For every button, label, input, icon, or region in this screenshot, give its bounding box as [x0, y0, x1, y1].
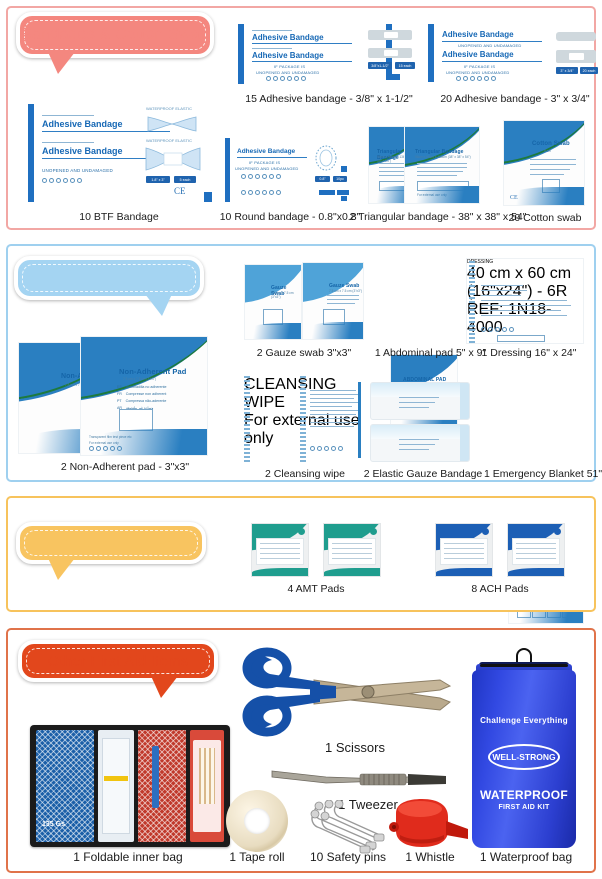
ab-small-rule-2	[252, 61, 352, 62]
this-way-up-icon	[70, 178, 75, 183]
section-header-other: Other First Aid Items	[18, 640, 218, 682]
no-reuse-icon	[317, 446, 322, 451]
caption-elastic-gauze: 2 Elastic Gauze Bandage	[358, 468, 488, 480]
caption-whistle: 1 Whistle	[392, 850, 468, 864]
drybag-brand-badge: WELL-STRONG	[488, 744, 560, 770]
section-header-swab: Swab, Pad and Wipe	[14, 256, 204, 300]
round-icon-row-1	[241, 174, 281, 179]
ab-large-title-2: Adhesive Bandage	[442, 50, 514, 59]
sachet-label	[256, 538, 303, 565]
drybag-line2: FIRST AID KIT	[472, 804, 576, 811]
section-header-other-label: Other First Aid Items	[48, 653, 189, 670]
fbag-mesh	[138, 730, 186, 842]
caption-adhesive-bandage-large: 20 Adhesive bandage - 3" x 3/4"	[430, 93, 600, 105]
no-resterilize-icon	[49, 178, 54, 183]
product-tweezer	[268, 765, 448, 793]
product-non-adherent-pad: Non-Adherent Pad 7.5 cm x 7.5 cm (3"x3")…	[18, 336, 228, 458]
pkg-line	[310, 390, 356, 391]
caption-dressing: 1 Dressing 16" x 24"	[470, 347, 588, 359]
butterfly-closure-small	[146, 114, 198, 134]
ab-small-icon-row	[266, 76, 306, 81]
product-waterproof-bag: Challenge Everything WELL-STRONG WATERPR…	[472, 648, 576, 848]
sterile-icon	[495, 327, 500, 332]
drybag-body: Challenge Everything WELL-STRONG WATERPR…	[472, 670, 576, 848]
keep-dry-icon	[262, 190, 267, 195]
pkg-line	[379, 175, 405, 176]
no-reuse-icon	[241, 174, 246, 179]
pkg-line	[327, 303, 355, 304]
pkg-line	[310, 402, 360, 403]
caption-gauze-swab: 2 Gauze swab 3"x3"	[244, 347, 364, 359]
sachet-footer	[508, 568, 564, 576]
gauze-pkg-front: Gauze Swab 7.5 cm x 7.5 cm (3"x3")	[302, 262, 364, 340]
product-whistle	[386, 795, 470, 853]
sachet-line	[332, 548, 372, 549]
fbag-tool-blue	[152, 746, 159, 808]
btf-rail-bottom	[204, 192, 212, 202]
round-icon-row-2	[241, 190, 281, 195]
non-adherent-title: Non-Adherent Pad	[119, 367, 186, 376]
caption-non-adherent-pad: 2 Non-Adherent pad - 3"x3"	[20, 461, 230, 473]
dressing-manufacturer-box	[497, 335, 545, 342]
sachet-line	[444, 553, 484, 554]
product-elastic-gauze	[370, 382, 474, 464]
cleansing-perforation-left	[244, 376, 250, 464]
non-adherent-lang-list: ES Almohadilla no adherente FR Compresse…	[117, 385, 167, 410]
btf-rail-left	[28, 104, 34, 202]
btf-fine-text: UNOPENED AND UNDAMAGED	[42, 168, 113, 173]
amt-pad-2	[323, 523, 381, 577]
pkg-line	[481, 310, 561, 311]
pkg-footer	[504, 187, 584, 205]
pkg-line	[530, 164, 576, 165]
ab-small-title-2: Adhesive Bandage	[252, 51, 324, 60]
butterfly-closure-large	[144, 146, 202, 172]
caption-waterproof-bag: 1 Waterproof bag	[466, 850, 586, 864]
ab-large-size-tag: 3" x 3/4"	[556, 67, 578, 74]
round-rule	[237, 157, 307, 158]
sachet-logo-dot	[482, 528, 489, 535]
ab-large-title-1: Adhesive Bandage	[442, 30, 514, 39]
cleansing-text-block	[310, 390, 360, 427]
ab-large-count-tag: 20 each	[580, 67, 598, 74]
lang-code: ES	[117, 385, 122, 389]
btf-title-1: Adhesive Bandage	[42, 119, 123, 129]
sterile-icon	[280, 76, 285, 81]
pkg-line	[530, 174, 564, 175]
ab-small-card: Adhesive Bandage Adhesive Bandage IF PAC…	[250, 26, 362, 84]
ab-small-fine-1: IF PACKAGE IS	[274, 64, 305, 69]
fbag-panel-mid-left	[98, 730, 134, 842]
pkg-line	[310, 422, 358, 423]
cleansing-icon-row	[310, 446, 343, 451]
no-reuse-icon	[241, 190, 246, 195]
lang-text: Compressa não-aderente	[126, 399, 167, 403]
fbag-content-card	[102, 738, 130, 834]
pkg-line	[481, 285, 523, 286]
tape-core-hole	[244, 808, 270, 834]
ab-small-fine-2: UNOPENED AND UNDAMAGED	[256, 70, 320, 75]
pkg-line	[530, 159, 576, 160]
gauze-size-back: 7.5 cm x 7.5 cm (3"x3")	[271, 291, 301, 299]
ce-icon	[481, 327, 486, 332]
round-block-4	[341, 196, 347, 201]
sachet-line	[332, 558, 372, 559]
ab-small-count-tag: 15 each	[395, 62, 415, 69]
caption-cleansing-wipe: 2 Cleansing wipe	[250, 468, 360, 480]
infographic-page: Bandages & Cotton Swab Adhesive Bandage …	[0, 0, 602, 879]
sachet-line	[516, 558, 556, 559]
pouch-line	[399, 449, 429, 450]
product-dressing: DRESSING 40 cm x 60 cm (16"x24") - 6R RE…	[466, 258, 584, 344]
round-rail-left	[225, 138, 230, 202]
non-adherent-size: 7.5 cm x 7.5 cm (3"x3")	[123, 377, 156, 381]
pkg-line	[327, 295, 359, 296]
pkg-line	[310, 394, 360, 395]
pouch-right-edge	[460, 383, 469, 419]
ab-small-rail-foot	[386, 74, 400, 80]
caption-btf-bandage: 10 BTF Bandage	[26, 211, 212, 223]
expiry-icon	[338, 446, 343, 451]
caption-scissors: 1 Scissors	[300, 740, 410, 755]
ab-small-tagline-2	[252, 48, 292, 49]
sachet-line	[332, 553, 372, 554]
temperature-icon	[276, 174, 281, 179]
ab-large-rule-1	[442, 41, 542, 42]
pouch-line	[399, 407, 429, 408]
section-header-bandages-label: Bandages & Cotton Swab	[21, 26, 209, 44]
drybag-slogan: Challenge Everything	[472, 716, 576, 725]
bubble-tail	[48, 558, 75, 580]
product-cotton-swab: Cotton Swab 8 cm CE	[503, 120, 585, 206]
keep-dry-icon	[63, 178, 68, 183]
no-resterilize-icon	[248, 174, 253, 179]
sachet-line	[260, 548, 300, 549]
pkg-line	[327, 299, 359, 300]
ab-small-rule-1	[252, 43, 352, 44]
btf-waterproof-label-1: WATERPROOF ELASTIC	[146, 106, 192, 111]
pouch-right-edge	[460, 425, 469, 461]
sachet-line	[516, 548, 556, 549]
non-adherent-pictogram	[119, 409, 153, 431]
round-card: Adhesive Bandage IF PACKAGE IS UNOPENED …	[235, 148, 313, 204]
caption-safety-pins: 10 Safety pins	[296, 850, 400, 864]
ab-large-card: Adhesive Bandage UNOPENED AND UNDAMAGED …	[440, 26, 552, 84]
ab-small-size-tag: 3/8"x1-1/2"	[368, 62, 392, 69]
sachet-line	[260, 543, 300, 544]
sachet-line	[444, 543, 484, 544]
round-fine-1: IF PACKAGE IS	[249, 160, 280, 165]
caption-tape-roll: 1 Tape roll	[212, 850, 302, 864]
amt-pad-1	[251, 523, 309, 577]
lang-row: PT Compressa não-aderente	[117, 399, 167, 403]
no-reuse-icon	[266, 76, 271, 81]
pouch-line	[399, 439, 439, 440]
temperature-icon	[276, 190, 281, 195]
bandage-strip-pad	[569, 53, 584, 60]
drybag-brand-label: WELL-STRONG	[492, 752, 555, 762]
this-way-up-icon	[484, 76, 489, 81]
triangular-size: 96cm x 96cm x 136cm (38" x 38" x 54")	[415, 155, 471, 159]
cleansing-perforation-mid	[300, 376, 306, 464]
sachet-label	[440, 538, 487, 565]
pkg-footer	[245, 323, 301, 339]
pkg-line	[481, 295, 521, 296]
product-cleansing-wipe: CLEANSING WIPE For external use only	[244, 376, 364, 466]
temperature-icon	[301, 76, 306, 81]
ce-icon	[310, 446, 315, 451]
fbag-panel-mid-right	[138, 730, 186, 842]
sterile-icon	[255, 190, 260, 195]
pkg-line	[310, 410, 358, 411]
temperature-icon	[491, 76, 496, 81]
pkg-line	[310, 398, 354, 399]
ab-small-title-1: Adhesive Bandage	[252, 33, 324, 42]
pkg-line	[310, 414, 356, 415]
sachet-line	[516, 543, 556, 544]
cleansing-edge-right	[358, 382, 361, 458]
pkg-line	[417, 167, 467, 168]
lang-code: PT	[117, 399, 122, 403]
cotton-swab-title: Cotton Swab	[532, 141, 570, 147]
ab-large-fine-1: IF PACKAGE IS	[464, 64, 495, 69]
ab-large-fine-0: UNOPENED AND UNDAMAGED	[458, 43, 522, 48]
btf-title-2: Adhesive Bandage	[42, 146, 123, 156]
btf-ce-mark: CE	[174, 186, 186, 196]
sterile-icon	[56, 178, 61, 183]
sachet-line	[260, 558, 300, 559]
lang-row: FR Compresse non adherent	[117, 392, 167, 396]
product-foldable-inner-bag: 135 Gs	[30, 725, 230, 847]
dressing-text-block	[481, 285, 577, 316]
round-block-3	[337, 190, 349, 195]
caption-ach-pads: 8 ACH Pads	[435, 583, 565, 595]
this-way-up-icon	[269, 190, 274, 195]
product-scissors	[240, 640, 456, 744]
section-header-swab-label: Swab, Pad and Wipe	[37, 270, 181, 287]
no-resterilize-icon	[463, 76, 468, 81]
bubble-tail	[145, 294, 172, 316]
keep-dry-icon	[331, 446, 336, 451]
bandage-strip-pad	[384, 32, 398, 38]
drybag-strap	[480, 664, 568, 667]
pkg-footer	[405, 186, 479, 203]
btf-count-tag: 5 each	[174, 176, 196, 183]
sachet-footer	[324, 568, 380, 576]
ab-large-icon-row	[456, 76, 496, 81]
cotton-swab-size: 8 cm	[544, 149, 551, 153]
section-header-pads: ACH and AMT Pad	[16, 522, 206, 564]
fbag-swab-sticks	[199, 748, 215, 804]
bandage-strip-2	[368, 48, 412, 58]
expiry-icon	[509, 327, 514, 332]
pkg-line	[481, 315, 567, 316]
btf-waterproof-label-2: WATERPROOF ELASTIC	[146, 138, 192, 143]
pkg-green-line	[404, 126, 480, 167]
gauze-pkg-back: Gauze Swab 7.5 cm x 7.5 cm (3"x3")	[244, 264, 302, 340]
pouch-tint	[371, 425, 469, 439]
drybag-line1: WATERPROOF	[472, 788, 576, 802]
btf-tagline-1	[42, 115, 94, 116]
this-way-up-icon	[294, 76, 299, 81]
round-block-1	[341, 166, 347, 172]
fbag-yellow-strip	[104, 776, 128, 781]
keep-dry-icon	[477, 76, 482, 81]
bubble-tail	[48, 52, 75, 74]
product-safety-pins	[306, 800, 392, 854]
fbag-panel-right	[190, 730, 224, 842]
sachet-logo-dot	[554, 528, 561, 535]
keep-dry-icon	[262, 174, 267, 179]
lang-row: ES Almohadilla no adherente	[117, 385, 167, 389]
no-reuse-icon	[456, 76, 461, 81]
keep-dry-icon	[502, 327, 507, 332]
round-block-2	[319, 190, 335, 195]
lang-text: Almohadilla no adherente	[126, 385, 167, 389]
sterile-icon	[255, 174, 260, 179]
fbag-panel-left: 135 Gs	[36, 730, 94, 842]
lang-code: FR	[117, 392, 122, 396]
pkg-line	[417, 163, 467, 164]
btf-icon-row	[42, 178, 82, 183]
elastic-gauze-pouch-1	[370, 382, 470, 420]
product-round-bandage: Adhesive Bandage IF PACKAGE IS UNOPENED …	[225, 138, 345, 204]
bandage-strip-pad	[384, 50, 398, 56]
bandage-strip-1	[368, 30, 412, 40]
pkg-line	[481, 290, 527, 291]
sachet-line	[260, 553, 300, 554]
pkg-line	[417, 171, 463, 172]
round-fine-2: UNOPENED AND UNDAMAGED	[235, 166, 299, 171]
pkg-line	[310, 426, 354, 427]
dressing-icon-row	[481, 327, 514, 332]
sachet-line	[444, 548, 484, 549]
triangular-pkg-front: Triangular Bandage 96cm x 96cm x 136cm (…	[404, 126, 480, 204]
sachet-footer	[252, 568, 308, 576]
gauze-size: 7.5 cm x 7.5 cm (3"x3")	[329, 289, 362, 293]
pkg-line	[310, 406, 352, 407]
caption-amt-pads: 4 AMT Pads	[251, 583, 381, 595]
sachet-logo-dot	[370, 528, 377, 535]
sachet-line	[516, 553, 556, 554]
sachet-footer	[436, 568, 492, 576]
no-resterilize-icon	[248, 190, 253, 195]
ach-pad-2	[507, 523, 565, 577]
this-way-up-icon	[269, 174, 274, 179]
pkg-line	[481, 300, 567, 301]
ab-small-rail-left	[238, 24, 244, 84]
bandage-strip-wide-2	[556, 50, 596, 63]
pkg-line	[310, 418, 350, 419]
section-header-pads-label: ACH and AMT Pad	[46, 535, 175, 552]
pkg-line	[530, 169, 570, 170]
pouch-tint	[371, 383, 469, 397]
sachet-logo-dot	[298, 528, 305, 535]
pkg-line	[481, 305, 571, 306]
bubble-tail	[151, 676, 178, 698]
product-adhesive-bandage-large: Adhesive Bandage UNOPENED AND UNDAMAGED …	[428, 24, 598, 86]
elastic-gauze-pouch-2	[370, 424, 470, 462]
product-adhesive-bandage-small: Adhesive Bandage Adhesive Bandage IF PAC…	[238, 24, 418, 86]
round-bandage-graphic	[313, 144, 339, 172]
product-gauze-swab: Gauze Swab 7.5 cm x 7.5 cm (3"x3") Gauze…	[244, 262, 364, 342]
product-btf-bandage: Adhesive Bandage Adhesive Bandage UNOPEN…	[26, 100, 212, 205]
btf-tagline-2	[42, 142, 94, 143]
pouch-line	[399, 444, 435, 445]
round-count-tag: 10pc	[333, 176, 347, 182]
sterile-icon	[470, 76, 475, 81]
pkg-footer	[81, 429, 207, 455]
no-reuse-icon	[42, 178, 47, 183]
pkg-line	[417, 175, 457, 176]
btf-size-tag: 1.8" x 3"	[146, 176, 170, 183]
keep-dry-icon	[287, 76, 292, 81]
pouch-line	[399, 402, 435, 403]
round-size-tag: 0.8"	[315, 176, 330, 182]
caption-adhesive-bandage-small: 15 Adhesive bandage - 3/8" x 1-1/2"	[234, 93, 424, 105]
ab-large-rail-left	[428, 24, 434, 82]
bandage-strip-wide-1	[556, 32, 596, 41]
caption-cotton-swab: 20 Cotton swab	[500, 212, 590, 224]
pouch-line	[399, 397, 439, 398]
section-header-bandages: Bandages & Cotton Swab	[16, 12, 214, 58]
pkg-footer	[303, 322, 363, 339]
no-resterilize-icon	[273, 76, 278, 81]
non-adherent-pkg-front: Non-Adherent Pad 7.5 cm x 7.5 cm (3"x3")…	[80, 336, 208, 456]
product-tape-roll	[226, 790, 288, 852]
temperature-icon	[77, 178, 82, 183]
caption-foldable-inner-bag: 1 Foldable inner bag	[28, 850, 228, 864]
no-reuse-icon	[488, 327, 493, 332]
sachet-line	[444, 558, 484, 559]
ab-large-fine-2: UNOPENED AND UNDAMAGED	[446, 70, 510, 75]
ab-small-tagline-1	[252, 30, 292, 31]
sachet-label	[512, 538, 559, 565]
sachet-label	[328, 538, 375, 565]
sterile-icon	[324, 446, 329, 451]
lang-text: Compresse non adherent	[126, 392, 167, 396]
ach-pad-1	[435, 523, 493, 577]
round-title: Adhesive Bandage	[237, 148, 295, 155]
fbag-badge: 135 Gs	[42, 821, 65, 828]
product-triangular-bandage: Triangular Bandage 96cm x 96cm x 136cm (…	[368, 126, 488, 204]
dressing-perforation	[469, 261, 475, 343]
caption-emergency-blanket: 1 Emergency Blanket 51" x 83"	[484, 468, 602, 480]
ab-large-rule-2	[442, 61, 542, 62]
sachet-line	[332, 543, 372, 544]
